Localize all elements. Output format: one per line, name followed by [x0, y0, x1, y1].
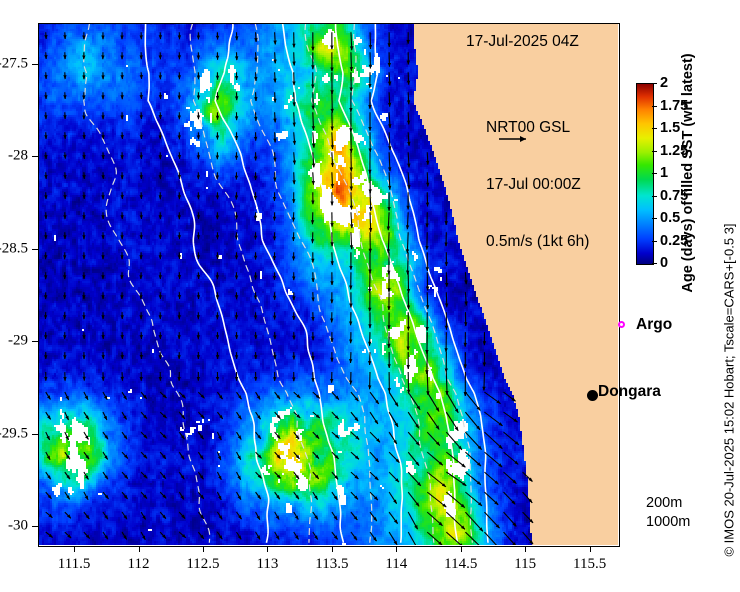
x-tick-label: 114.5: [444, 556, 477, 573]
colorbar-tick: [652, 196, 657, 197]
dongara-marker-icon: [587, 390, 598, 401]
x-tick: [267, 546, 268, 552]
y-tick-label: -29.5: [0, 425, 28, 442]
x-tick-label: 112: [128, 556, 150, 573]
colorbar-tick: [652, 263, 657, 264]
x-tick-label: 114: [385, 556, 407, 573]
y-tick-label: -28: [8, 148, 28, 165]
colorbar-tick: [652, 151, 657, 152]
argo-marker-icon: [618, 321, 625, 328]
x-tick-label: 115.5: [573, 556, 606, 573]
depth-200m-label: 200m: [646, 494, 690, 513]
y-tick-label: -30: [8, 518, 28, 535]
x-tick: [332, 546, 333, 552]
colorbar-tick-label: 0.5: [660, 210, 680, 226]
colorbar-gradient: [636, 83, 654, 265]
x-tick: [74, 546, 75, 552]
x-tick-label: 113: [256, 556, 278, 573]
y-tick-label: -29: [8, 333, 28, 350]
y-tick: [32, 64, 38, 65]
x-tick-label: 113.5: [315, 556, 348, 573]
x-tick: [525, 546, 526, 552]
model-time: 17-Jul 00:00Z: [486, 175, 589, 194]
colorbar-tick: [652, 106, 657, 107]
y-tick: [32, 341, 38, 342]
x-tick: [590, 546, 591, 552]
dongara-label: Dongara: [598, 383, 661, 401]
colorbar-tick: [652, 241, 657, 242]
colorbar-tick: [652, 173, 657, 174]
y-tick: [32, 434, 38, 435]
date-stamp: 17-Jul-2025 04Z: [466, 33, 579, 51]
credit-text: © IMOS 20-Jul-2025 15:02 Hobart; Tscale=…: [722, 223, 737, 556]
colorbar-tick-label: 0: [660, 255, 668, 271]
colorbar-tick: [652, 83, 657, 84]
depth-200m-line-sample: [640, 514, 692, 516]
velocity-scale-label: 0.5m/s (1kt 6h): [486, 232, 589, 251]
x-tick-label: 115: [514, 556, 536, 573]
argo-label: Argo: [636, 316, 672, 334]
x-tick: [461, 546, 462, 552]
map-figure: 111.5112112.5113113.5114114.5115115.5-27…: [0, 0, 740, 592]
y-tick: [32, 156, 38, 157]
colorbar-tick: [652, 128, 657, 129]
colorbar-tick-label: 1.5: [660, 120, 680, 136]
x-tick: [139, 546, 140, 552]
x-tick: [396, 546, 397, 552]
y-tick-label: -27.5: [0, 55, 28, 72]
velocity-reference-arrow: [498, 133, 532, 145]
x-tick: [203, 546, 204, 552]
colorbar-tick-label: 1: [660, 165, 668, 181]
x-tick-label: 111.5: [58, 556, 91, 573]
colorbar-tick-label: 2: [660, 75, 668, 91]
colorbar-title: Age (days) of filled SST (wrt latest): [680, 53, 696, 292]
y-tick: [32, 526, 38, 527]
x-tick-label: 112.5: [186, 556, 219, 573]
y-tick-label: -28.5: [0, 240, 28, 257]
model-info-block: NRT00 GSL 17-Jul 00:00Z 0.5m/s (1kt 6h): [486, 80, 589, 289]
depth-contour-legend: 200m 1000m: [646, 494, 690, 532]
depth-1000m-line-sample: [640, 534, 692, 536]
y-tick: [32, 249, 38, 250]
colorbar-tick: [652, 218, 657, 219]
